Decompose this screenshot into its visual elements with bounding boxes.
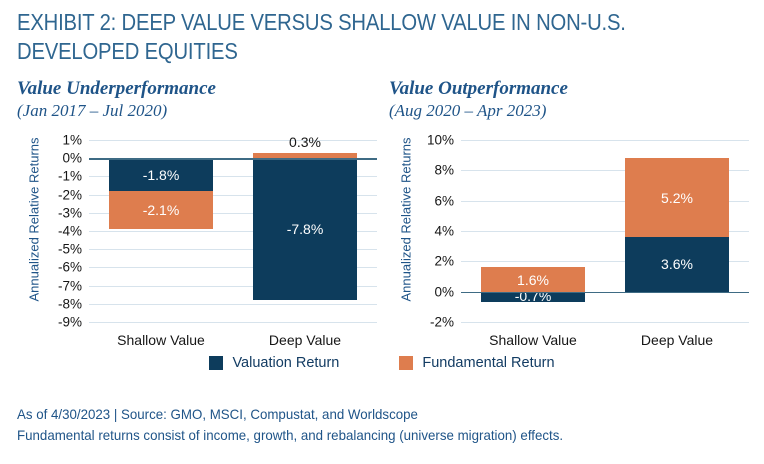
bar-segment-fundamental: 1.6% bbox=[481, 267, 585, 291]
y-tick-label: -2% bbox=[430, 315, 454, 330]
bar-value-label: -7.8% bbox=[287, 221, 324, 237]
y-tick-label: -7% bbox=[58, 278, 82, 293]
y-tick-label: -8% bbox=[58, 296, 82, 311]
bar-segment-valuation: 3.6% bbox=[625, 237, 729, 292]
plot-area-right: 10%8%6%4%2%0%-2%-0.7%1.6%Shallow Value3.… bbox=[461, 140, 749, 322]
chart-panel-left: Value Underperformance (Jan 2017 – Jul 2… bbox=[17, 78, 385, 121]
legend-swatch-icon bbox=[399, 356, 413, 370]
legend-label: Fundamental Return bbox=[422, 355, 554, 371]
bar-value-label: 5.2% bbox=[661, 190, 693, 206]
y-axis-title-left: Annualized Relative Returns bbox=[27, 135, 42, 305]
x-category-label: Deep Value bbox=[641, 332, 713, 348]
bar-segment-valuation: -1.8% bbox=[109, 158, 213, 191]
gridline bbox=[461, 322, 749, 323]
plot-area-left: 1%0%-1%-2%-3%-4%-5%-6%-7%-8%-9%-1.8%-2.1… bbox=[89, 140, 377, 322]
x-category-label: Shallow Value bbox=[489, 332, 577, 348]
bar-chart-left: Annualized Relative Returns 1%0%-1%-2%-3… bbox=[17, 134, 385, 344]
chart-panel-right: Value Outperformance (Aug 2020 – Apr 202… bbox=[389, 78, 757, 121]
y-tick-label: -5% bbox=[58, 242, 82, 257]
y-tick-label: 2% bbox=[434, 254, 454, 269]
y-tick-label: 0% bbox=[434, 284, 454, 299]
legend-label: Valuation Return bbox=[232, 355, 339, 371]
chart-subtitle-left: (Jan 2017 – Jul 2020) bbox=[17, 101, 385, 121]
y-tick-label: 10% bbox=[427, 133, 454, 148]
y-tick-label: -3% bbox=[58, 205, 82, 220]
bar-segment-valuation: -0.7% bbox=[481, 292, 585, 303]
footer-notes: As of 4/30/2023 | Source: GMO, MSCI, Com… bbox=[17, 404, 747, 446]
x-category-label: Shallow Value bbox=[117, 332, 205, 348]
gridline bbox=[89, 304, 377, 305]
chart-legend: Valuation ReturnFundamental Return bbox=[0, 355, 764, 371]
x-category-label: Deep Value bbox=[269, 332, 341, 348]
y-tick-label: 1% bbox=[62, 133, 82, 148]
bar-chart-right: Annualized Relative Returns 10%8%6%4%2%0… bbox=[389, 134, 757, 344]
y-axis-title-right: Annualized Relative Returns bbox=[399, 135, 414, 305]
gridline bbox=[89, 140, 377, 141]
y-tick-label: -1% bbox=[58, 169, 82, 184]
bar-segment-fundamental: 5.2% bbox=[625, 158, 729, 237]
chart-title-right: Value Outperformance bbox=[389, 78, 757, 100]
y-tick-label: 0% bbox=[62, 151, 82, 166]
page-title: EXHIBIT 2: DEEP VALUE VERSUS SHALLOW VAL… bbox=[17, 8, 664, 66]
legend-item-fundamental[interactable]: Fundamental Return bbox=[399, 355, 554, 371]
gridline bbox=[461, 140, 749, 141]
y-tick-label: 4% bbox=[434, 224, 454, 239]
chart-subtitle-right: (Aug 2020 – Apr 2023) bbox=[389, 101, 757, 121]
y-tick-label: 8% bbox=[434, 163, 454, 178]
legend-item-valuation[interactable]: Valuation Return bbox=[209, 355, 339, 371]
chart-title-left: Value Underperformance bbox=[17, 78, 385, 100]
zero-axis-line bbox=[461, 292, 749, 294]
footer-definition-line: Fundamental returns consist of income, g… bbox=[17, 425, 711, 446]
y-tick-label: -4% bbox=[58, 224, 82, 239]
bar-value-label: 1.6% bbox=[517, 272, 549, 288]
bar-value-label: 0.3% bbox=[289, 134, 321, 150]
zero-axis-line bbox=[89, 158, 377, 160]
gridline bbox=[89, 322, 377, 323]
y-tick-label: 6% bbox=[434, 193, 454, 208]
y-tick-label: -2% bbox=[58, 187, 82, 202]
bar-segment-valuation: -7.8% bbox=[253, 158, 357, 300]
bar-segment-fundamental: -2.1% bbox=[109, 191, 213, 229]
bar-value-label: -1.8% bbox=[143, 167, 180, 183]
legend-swatch-icon bbox=[209, 356, 223, 370]
bar-value-label: 3.6% bbox=[661, 256, 693, 272]
bar-value-label: -2.1% bbox=[143, 202, 180, 218]
y-tick-label: -6% bbox=[58, 260, 82, 275]
footer-source-line: As of 4/30/2023 | Source: GMO, MSCI, Com… bbox=[17, 404, 711, 425]
y-tick-label: -9% bbox=[58, 315, 82, 330]
